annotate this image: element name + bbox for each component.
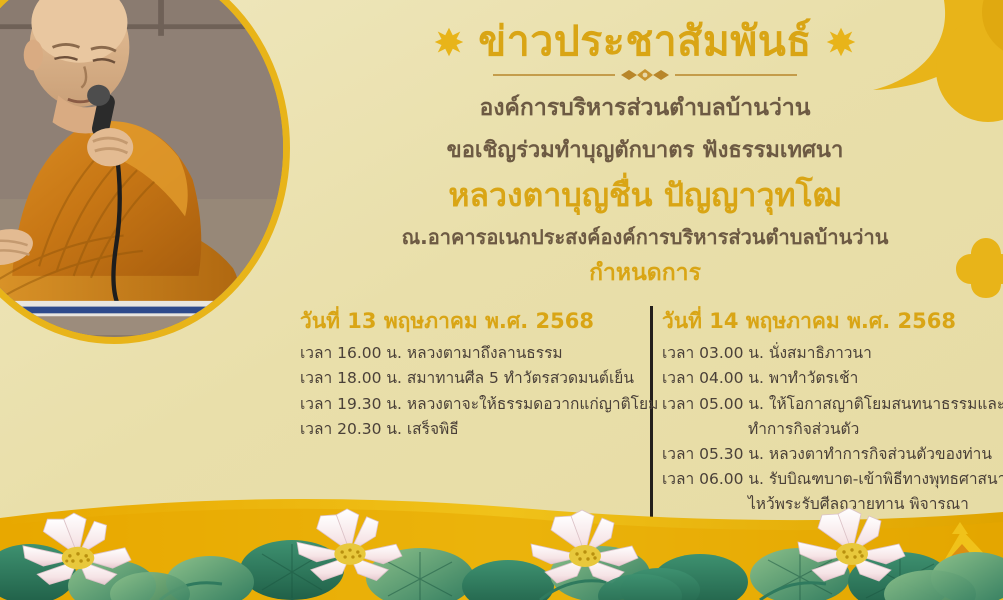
monk-portrait-illustration [0,0,283,335]
schedule-item-continuation: ไหว้พระรับศีลถวายทาน พิจารณา [662,492,997,517]
schedule-item: เวลา 05.00 น. ให้โอกาสญาติโยมสนทนาธรรมแล… [662,392,997,442]
organization-name: องค์การบริหารส่วนตำบลบ้านว่าน [300,93,990,124]
title-row: ข่าวประชาสัมพันธ์ [300,18,990,65]
schedule-column-day2: วันที่ 14 พฤษภาคม พ.ศ. 2568 เวลา 03.00 น… [662,308,997,542]
day1-heading: วันที่ 13 พฤษภาคม พ.ศ. 2568 [300,308,640,335]
day2-item-list: เวลา 03.00 น. นั่งสมาธิภาวนาเวลา 04.00 น… [662,341,997,542]
quatrefoil-left-icon [434,27,464,57]
day1-item-list: เวลา 16.00 น. หลวงตามาถึงลานธรรมเวลา 18.… [300,341,640,441]
schedule-section: วันที่ 13 พฤษภาคม พ.ศ. 2568 เวลา 16.00 น… [0,308,1003,538]
diamond-divider-icon [485,67,805,83]
header-block: ข่าวประชาสัมพันธ์ องค์การบริหารส่วนตำบลบ… [300,18,990,289]
venue-line: ณ.อาคารอเนกประสงค์องค์การบริหารส่วนตำบลบ… [300,224,990,251]
schedule-item-continuation: อาหาร อนุโมทนาบุญให้พร [662,517,997,542]
schedule-item: เวลา 05.30 น. หลวงตาทำการกิจส่วนตัวของท่… [662,442,997,467]
quatrefoil-right-icon [826,27,856,57]
monk-name: หลวงตาบุญชื่น ปัญญาวุทโฒ [300,175,990,215]
invitation-line: ขอเชิญร่วมทำบุญตักบาตร ฟังธรรมเทศนา [300,136,990,166]
poster-canvas: ข่าวประชาสัมพันธ์ องค์การบริหารส่วนตำบลบ… [0,0,1003,600]
agenda-heading: กำหนดการ [300,259,990,289]
schedule-item: เวลา 03.00 น. นั่งสมาธิภาวนา [662,341,997,366]
schedule-column-day1: วันที่ 13 พฤษภาคม พ.ศ. 2568 เวลา 16.00 น… [300,308,640,442]
schedule-item: เวลา 20.30 น. เสร็จพิธี [300,417,640,442]
schedule-item: เวลา 06.00 น. รับบิณฑบาต-เข้าพิธีทางพุทธ… [662,467,997,542]
schedule-item: เวลา 18.00 น. สมาทานศีล 5 ทำวัตรสวดมนต์เ… [300,366,640,391]
schedule-item: เวลา 19.30 น. หลวงตาจะให้ธรรมดอวากแก่ญาต… [300,392,640,417]
schedule-item: เวลา 16.00 น. หลวงตามาถึงลานธรรม [300,341,640,366]
page-title: ข่าวประชาสัมพันธ์ [478,18,812,65]
schedule-item-continuation: ทำการกิจส่วนตัว [662,417,997,442]
schedule-item: เวลา 04.00 น. พาทำวัตรเช้า [662,366,997,391]
day2-heading: วันที่ 14 พฤษภาคม พ.ศ. 2568 [662,308,997,335]
monk-portrait-photo [0,0,290,344]
